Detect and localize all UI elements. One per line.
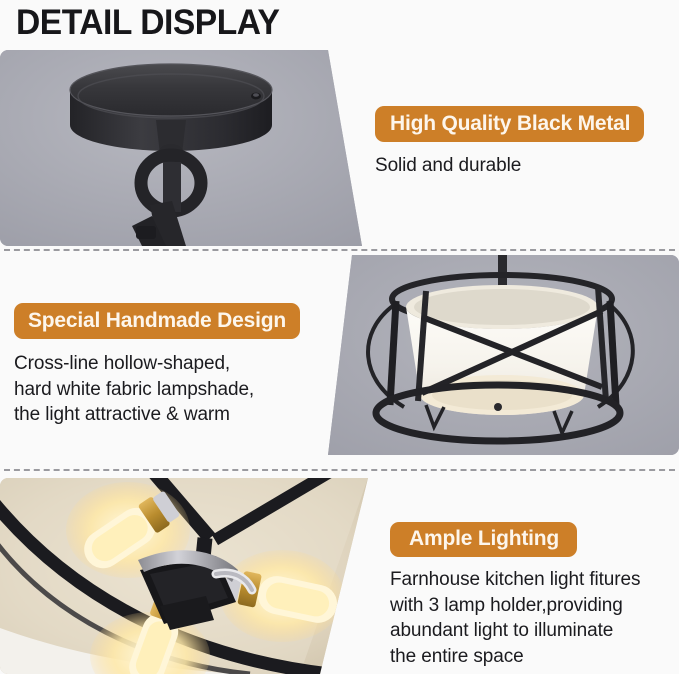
white-drum-lampshade-cage-photo <box>326 255 679 455</box>
feature-badge-3: Ample Lighting <box>390 522 577 557</box>
section-divider-2 <box>4 469 675 471</box>
feature-copy-2: Cross-line hollow-shaped, hard white fab… <box>14 351 330 428</box>
black-metal-ceiling-canopy-photo <box>0 50 362 246</box>
feature-text-3: Ample Lighting Farnhouse kitchen light f… <box>390 522 670 669</box>
feature-section-3: Ample Lighting Farnhouse kitchen light f… <box>0 478 679 674</box>
feature-section-1: High Quality Black Metal Solid and durab… <box>0 50 679 246</box>
three-edison-bulbs-lit-photo <box>0 478 368 674</box>
feature-section-2: Special Handmade Design Cross-line hollo… <box>0 255 679 455</box>
feature-badge-1: High Quality Black Metal <box>375 106 644 142</box>
page-title: DETAIL DISPLAY <box>16 2 279 44</box>
feature-text-2: Special Handmade Design Cross-line hollo… <box>14 303 330 428</box>
feature-text-1: High Quality Black Metal Solid and durab… <box>375 106 671 179</box>
feature-badge-2: Special Handmade Design <box>14 303 300 339</box>
detail-display-page: DETAIL DISPLAY <box>0 0 679 674</box>
feature-copy-1: Solid and durable <box>375 153 671 179</box>
section-divider-1 <box>4 249 675 251</box>
feature-copy-3: Farnhouse kitchen light fitures with 3 l… <box>390 567 670 669</box>
